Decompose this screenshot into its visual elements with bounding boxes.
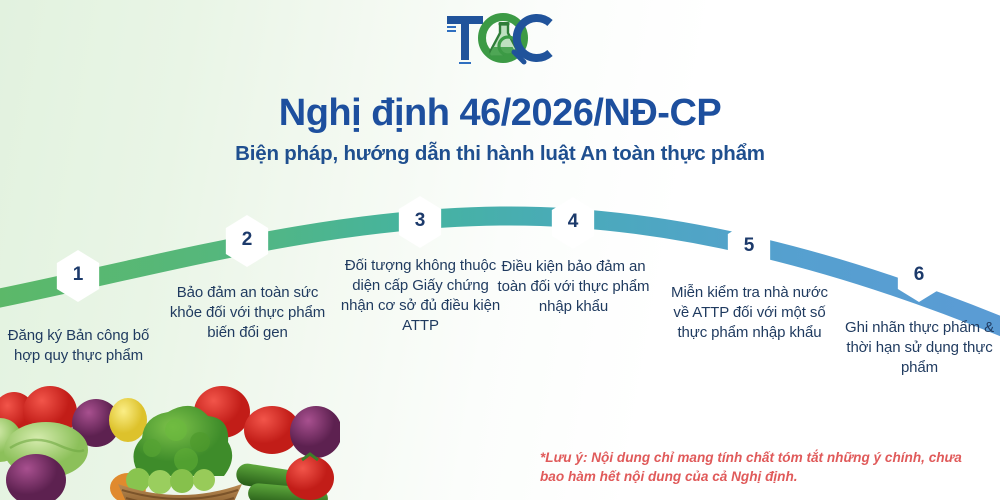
step-number-1: 1 bbox=[73, 264, 84, 286]
step-number-2: 2 bbox=[242, 229, 253, 251]
step-label-5: Miễn kiểm tra nhà nước về ATTP đối với m… bbox=[667, 283, 832, 343]
step-label-3: Đối tượng không thuộc diện cấp Giấy chứn… bbox=[338, 256, 503, 336]
step-number-3: 3 bbox=[415, 210, 426, 232]
step-label-4: Điều kiện bảo đảm an toàn đối với thực p… bbox=[491, 257, 656, 317]
step-number-6: 6 bbox=[914, 264, 925, 286]
fresh-vegetables-photo bbox=[0, 368, 340, 500]
step-number-4: 4 bbox=[568, 211, 579, 233]
step-number-5: 5 bbox=[744, 235, 755, 257]
step-label-2: Bảo đảm an toàn sức khỏe đối với thực ph… bbox=[165, 283, 330, 343]
footnote-note: *Lưu ý: Nội dung chỉ mang tính chất tóm … bbox=[540, 448, 980, 486]
step-label-1: Đăng ký Bản công bố hợp quy thực phẩm bbox=[0, 326, 161, 366]
step-label-6: Ghi nhãn thực phẩm & thời hạn sử dụng th… bbox=[837, 318, 1000, 378]
